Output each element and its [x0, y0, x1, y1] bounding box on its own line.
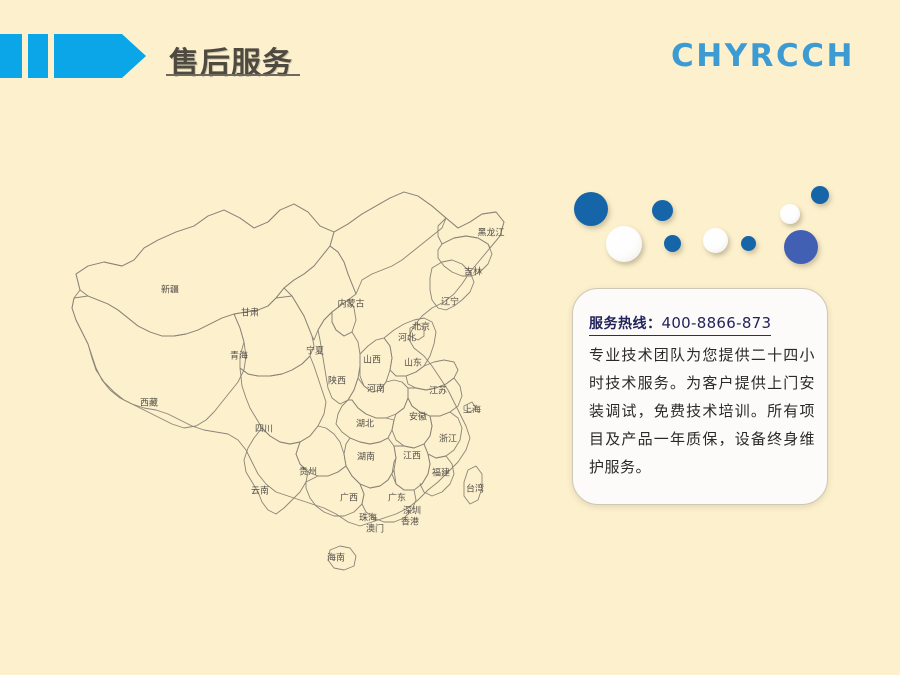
- map-label: 上海: [463, 403, 481, 416]
- map-label: 海南: [327, 551, 345, 564]
- map-label: 湖南: [357, 450, 375, 463]
- decor-dot: [703, 228, 728, 253]
- map-label: 山东: [404, 356, 422, 369]
- map-label: 山西: [363, 353, 381, 366]
- decor-dot: [780, 204, 800, 224]
- map-label: 甘肃: [241, 306, 259, 319]
- map-label: 安徽: [409, 410, 427, 423]
- decor-dot: [784, 230, 818, 264]
- map-label: 浙江: [439, 432, 457, 445]
- page-title-underline: [166, 74, 300, 76]
- map-label: 吉林: [464, 265, 482, 278]
- decor-dot: [606, 226, 642, 262]
- decor-dot: [574, 192, 608, 226]
- decor-dot: [741, 236, 756, 251]
- slide-canvas: 售后服务 CHYRCCH: [0, 0, 900, 675]
- map-label: 广东: [388, 491, 406, 504]
- map-label-layer: 新疆甘肃青海西藏内蒙古宁夏陕西山西河北北京山东河南江苏安徽上海浙江湖北湖南江西福…: [18, 170, 518, 590]
- decor-dot: [652, 200, 673, 221]
- brand-logo: CHYRCCH: [671, 38, 855, 74]
- map-label: 澳门: [366, 522, 384, 535]
- map-label: 西藏: [140, 396, 158, 409]
- map-label: 青海: [230, 349, 248, 362]
- map-label: 香港: [401, 515, 419, 528]
- service-info-card: 服务热线：400-8866-873 专业技术团队为您提供二十四小时技术服务。为客…: [572, 288, 828, 505]
- map-label: 云南: [251, 484, 269, 497]
- hotline-label: 服务热线：: [589, 316, 662, 332]
- decorative-dot-cluster: [560, 180, 860, 280]
- map-label: 北京: [412, 320, 430, 333]
- map-label: 河南: [367, 382, 385, 395]
- map-label: 新疆: [161, 283, 179, 296]
- hotline-number: 400-8866-873: [662, 314, 772, 332]
- chevron-arrow-banner-icon: [0, 34, 150, 78]
- map-label: 宁夏: [306, 344, 324, 357]
- service-description: 专业技术团队为您提供二十四小时技术服务。为客户提供上门安装调试，免费技术培训。所…: [589, 341, 815, 481]
- map-label: 辽宁: [441, 295, 459, 308]
- china-map: 新疆甘肃青海西藏内蒙古宁夏陕西山西河北北京山东河南江苏安徽上海浙江湖北湖南江西福…: [18, 170, 518, 590]
- map-label: 江苏: [429, 384, 447, 397]
- map-label: 台湾: [466, 482, 484, 495]
- map-label: 贵州: [299, 465, 317, 478]
- decor-dot: [664, 235, 681, 252]
- hotline-row: 服务热线：400-8866-873: [589, 313, 771, 336]
- map-label: 江西: [403, 449, 421, 462]
- map-label: 福建: [432, 466, 450, 479]
- map-label: 黑龙江: [477, 226, 504, 239]
- map-label: 内蒙古: [337, 297, 364, 310]
- map-label: 陕西: [328, 374, 346, 387]
- map-label: 湖北: [356, 417, 374, 430]
- map-label: 广西: [340, 491, 358, 504]
- map-label: 四川: [255, 422, 273, 435]
- decor-dot: [811, 186, 829, 204]
